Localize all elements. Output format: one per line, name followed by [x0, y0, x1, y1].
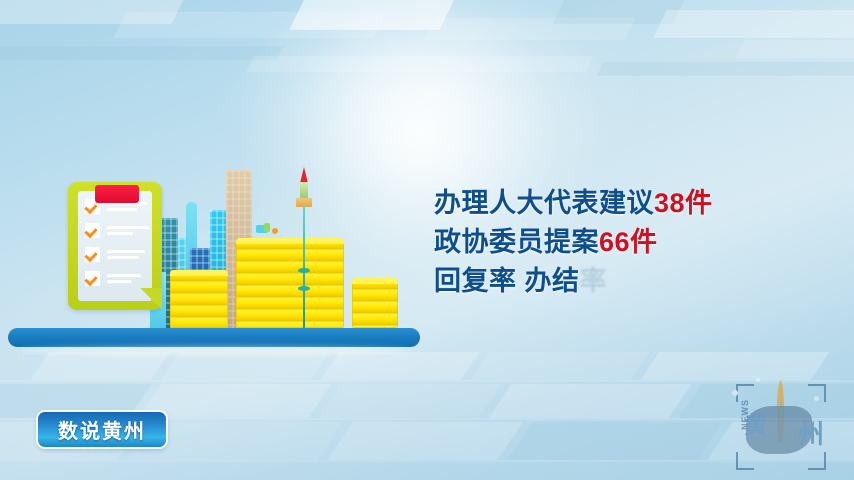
logo-bracket-bottom-right — [808, 452, 826, 470]
clipboard-illustration — [68, 182, 162, 310]
coin-stack-right — [352, 278, 398, 328]
logo-glyph-zhou: 州 — [798, 414, 824, 451]
headline-line-1-text: 办理人大代表建议 — [434, 188, 654, 218]
headline-line-3-ghost-char: 率 — [580, 266, 608, 296]
spire-node-lower — [298, 286, 310, 291]
headline-line-2-number: 66件 — [599, 227, 658, 257]
coin-stack-center — [236, 238, 344, 328]
station-logo-watermark: 黄 州 NEWS — [722, 372, 840, 478]
clipboard-page-fold — [140, 288, 162, 310]
logo-spark-1 — [732, 390, 738, 396]
headline-line-2: 政协委员提案66件 — [434, 223, 834, 262]
headline-line-1: 办理人大代表建议38件 — [434, 184, 834, 223]
logo-spark-2 — [756, 378, 760, 382]
ground-reflection — [18, 346, 410, 355]
headline-line-2-text: 政协委员提案 — [434, 227, 599, 257]
program-badge: 数说黄州 — [38, 412, 166, 447]
rooftop-bar-green — [264, 223, 270, 232]
logo-news-tag: NEWS — [740, 399, 750, 430]
tower-spire — [303, 205, 305, 328]
rooftop-dot-orange — [272, 228, 278, 234]
broadcast-graphic-screen: 办理人大代表建议38件 政协委员提案66件 回复率 办结率 数说黄州 黄 州 N… — [0, 0, 854, 480]
spire-node-upper — [298, 268, 310, 273]
logo-spark-3 — [814, 396, 819, 401]
tower-cone-icon — [300, 167, 308, 183]
ground-bar — [8, 328, 420, 347]
logo-bracket-bottom-left — [736, 452, 754, 470]
checkmark-icon-3 — [85, 247, 100, 262]
checkmark-icon-4 — [85, 271, 100, 286]
infographic-illustration — [0, 160, 440, 350]
background-top-panels — [0, 0, 854, 105]
headline-line-3: 回复率 办结率 — [434, 262, 834, 301]
coin-stack-left — [170, 270, 228, 328]
clipboard-page — [78, 191, 152, 301]
headline-line-1-number: 38件 — [654, 188, 713, 218]
headline-line-3-text: 回复率 办结 — [434, 266, 580, 296]
headline-block: 办理人大代表建议38件 政协委员提案66件 回复率 办结率 — [434, 184, 834, 301]
checkmark-icon-2 — [85, 223, 100, 238]
pagoda-tower — [296, 167, 312, 207]
program-badge-label: 数说黄州 — [58, 415, 146, 444]
clipboard-clip — [95, 185, 139, 203]
